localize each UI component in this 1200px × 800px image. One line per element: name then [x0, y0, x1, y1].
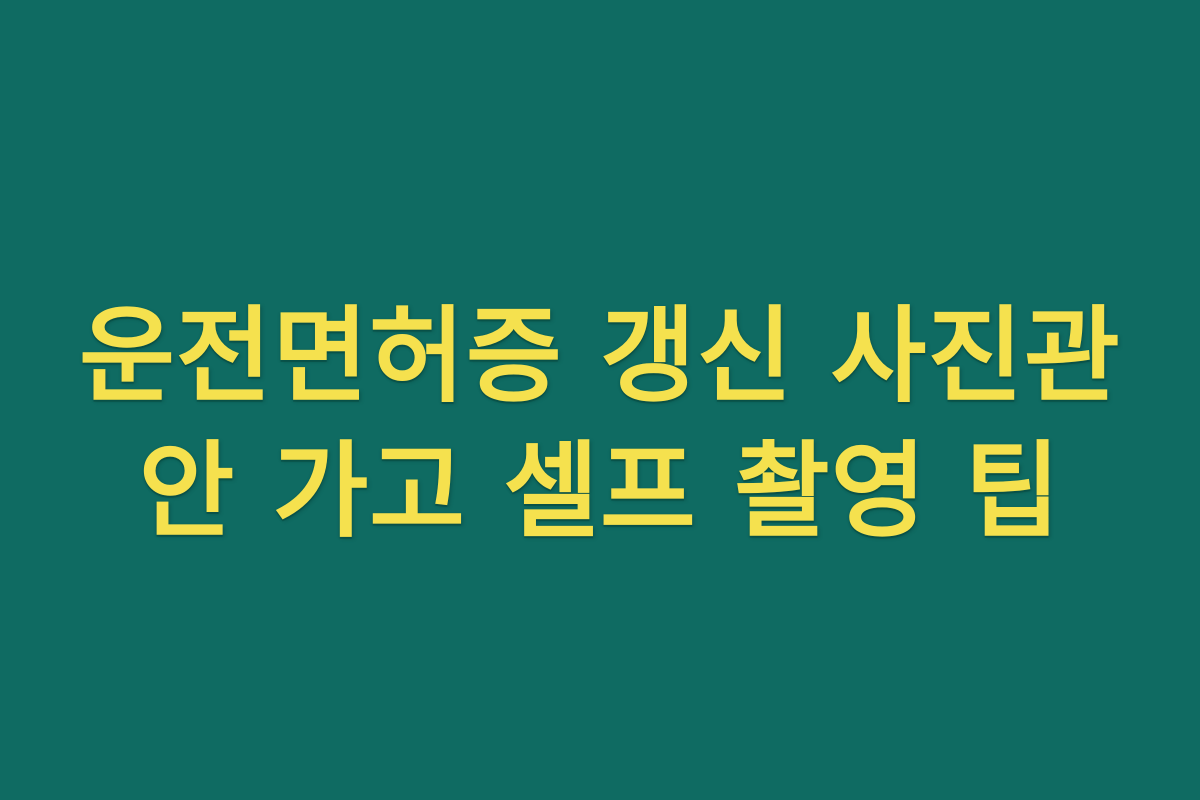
- headline-line-2: 안 가고 셀프 촬영 팁: [139, 424, 1062, 559]
- headline-block: 운전면허증 갱신 사진관 안 가고 셀프 촬영 팁: [0, 289, 1200, 559]
- thumbnail-card: 운전면허증 갱신 사진관 안 가고 셀프 촬영 팁: [0, 0, 1200, 800]
- headline-line-1: 운전면허증 갱신 사진관: [79, 289, 1121, 424]
